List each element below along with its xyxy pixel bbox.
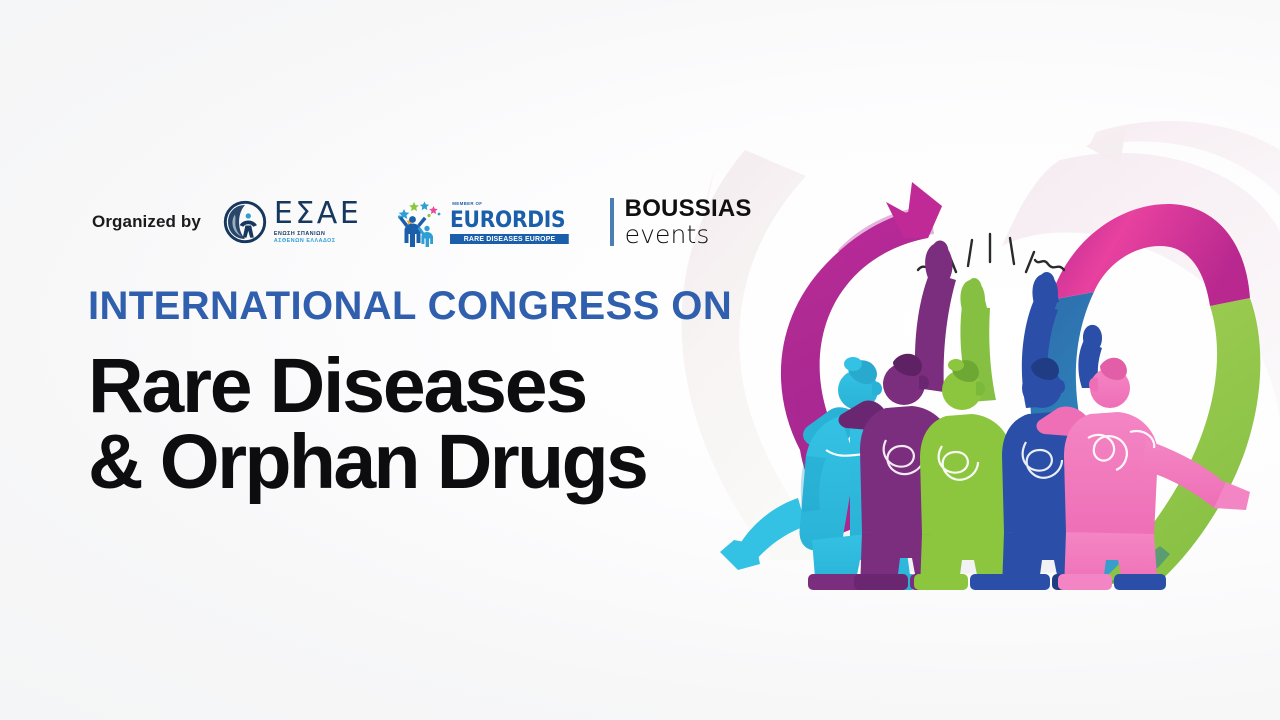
- title-line-1: Rare Diseases: [88, 343, 586, 429]
- eurordis-wordmark: MEMBER OF EURORDIS RARE DISEASES EUROPE: [450, 210, 575, 247]
- kicker-text: INTERNATIONAL CONGRESS ON: [88, 286, 732, 326]
- headline-block: INTERNATIONAL CONGRESS ON Rare Diseases …: [88, 286, 732, 500]
- page-title: Rare Diseases & Orphan Drugs: [88, 348, 732, 500]
- boussias-wordmark: BOUSSIAS events: [625, 196, 752, 248]
- logo-eurordis[interactable]: MEMBER OF EURORDIS RARE DISEASES EUROPE: [395, 197, 575, 247]
- esae-globe-person-icon: [223, 200, 267, 244]
- illustration-people-high-five: [690, 120, 1280, 590]
- eurordis-people-stars-icon: [395, 197, 447, 247]
- eurordis-member-of-label: MEMBER OF: [452, 202, 482, 206]
- logo-esae[interactable]: ΕΣΑΕ ΕΝΩΣΗ ΣΠΑΝΙΩΝ ΑΣΘΕΝΩΝ ΕΛΛΑΔΟΣ: [223, 200, 361, 245]
- organized-by-label: Organized by: [92, 212, 201, 232]
- event-banner: Organized by ΕΣΑΕ ΕΝΩΣΗ ΣΠΑΝΙΩΝ ΑΣΘΕΝΩΝ …: [0, 0, 1280, 720]
- boussias-name: BOUSSIAS: [625, 196, 752, 221]
- boussias-events-label: events: [625, 221, 752, 248]
- title-line-2: & Orphan Drugs: [88, 424, 732, 500]
- esae-letters: ΕΣΑΕ: [274, 200, 361, 229]
- esae-subtitle: ΕΝΩΣΗ ΣΠΑΝΙΩΝ ΑΣΘΕΝΩΝ ΕΛΛΑΔΟΣ: [274, 232, 361, 244]
- boussias-accent-bar: [610, 198, 614, 246]
- esae-subtitle-line2: ΑΣΘΕΝΩΝ ΕΛΛΑΔΟΣ: [274, 239, 361, 244]
- eurordis-name: EURORDIS: [450, 210, 565, 232]
- organizer-row: Organized by ΕΣΑΕ ΕΝΩΣΗ ΣΠΑΝΙΩΝ ΑΣΘΕΝΩΝ …: [92, 196, 752, 248]
- esae-wordmark: ΕΣΑΕ ΕΝΩΣΗ ΣΠΑΝΙΩΝ ΑΣΘΕΝΩΝ ΕΛΛΑΔΟΣ: [274, 200, 361, 245]
- logo-boussias-events[interactable]: BOUSSIAS events: [610, 196, 752, 248]
- esae-subtitle-line1: ΕΝΩΣΗ ΣΠΑΝΙΩΝ: [274, 231, 325, 237]
- eurordis-tagline: RARE DISEASES EUROPE: [450, 234, 569, 244]
